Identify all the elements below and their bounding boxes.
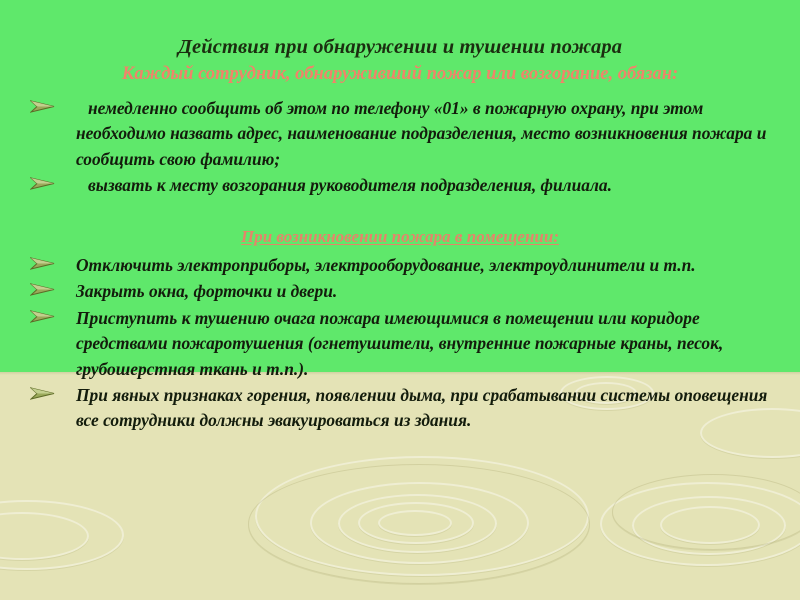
list-item-text: вызвать к месту возгорания руководителя …: [76, 173, 778, 198]
list-item: вызвать к месту возгорания руководителя …: [0, 173, 800, 198]
list-item-text: Отключить электроприборы, электрооборудо…: [76, 253, 778, 278]
bullet-list-part-one: немедленно сообщить об этом по телефону …: [0, 96, 800, 200]
arrowhead-bullet-icon: [30, 309, 60, 327]
subtitle: Каждый сотрудник, обнаруживший пожар или…: [0, 64, 800, 85]
list-item: При явных признаках горения, появлении д…: [0, 383, 800, 434]
section-heading-text: При возникновении пожара в помещении:: [241, 227, 559, 246]
slide-canvas: Действия при обнаружении и тушении пожар…: [0, 0, 800, 600]
list-item: Приступить к тушению очага пожара имеющи…: [0, 306, 800, 382]
arrowhead-bullet-icon: [30, 386, 60, 404]
list-item-text: Приступить к тушению очага пожара имеющи…: [76, 306, 778, 382]
slide-content: Действия при обнаружении и тушении пожар…: [0, 0, 800, 600]
arrowhead-bullet-icon: [30, 176, 60, 194]
arrowhead-bullet-icon: [30, 256, 60, 274]
list-item: Отключить электроприборы, электрооборудо…: [0, 253, 800, 278]
arrowhead-bullet-icon: [30, 282, 60, 300]
list-item-text: Закрыть окна, форточки и двери.: [76, 279, 778, 304]
list-item: немедленно сообщить об этом по телефону …: [0, 96, 800, 172]
bullet-list-part-two: Отключить электроприборы, электрооборудо…: [0, 253, 800, 435]
list-item-text: При явных признаках горения, появлении д…: [76, 383, 778, 434]
section-heading: При возникновении пожара в помещении:: [0, 227, 800, 247]
page-title: Действия при обнаружении и тушении пожар…: [0, 36, 800, 59]
arrowhead-bullet-icon: [30, 99, 60, 117]
list-item: Закрыть окна, форточки и двери.: [0, 279, 800, 304]
list-item-text: немедленно сообщить об этом по телефону …: [76, 96, 778, 172]
